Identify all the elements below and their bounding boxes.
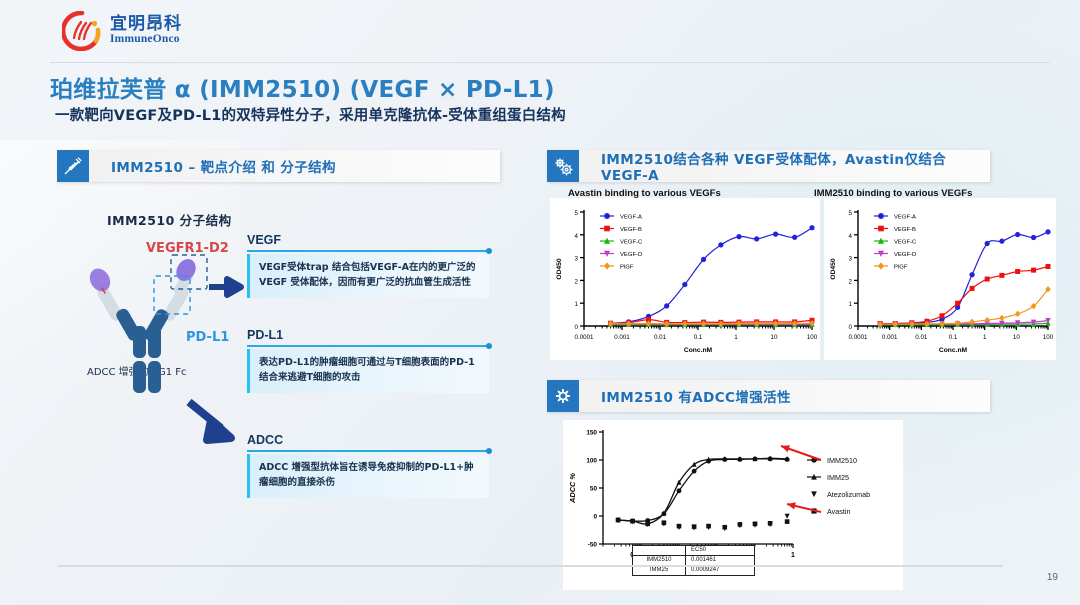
svg-text:0: 0 <box>593 514 597 521</box>
page-number: 19 <box>1047 572 1058 583</box>
svg-text:VEGF-B: VEGF-B <box>620 227 642 233</box>
slide-header: 宜明昂科 ImmuneOnco <box>0 0 1080 64</box>
ec50-table: EC50 IMM2510 0.001461 IMM25 0.0009247 <box>632 545 755 576</box>
svg-text:VEGF-A: VEGF-A <box>620 215 642 221</box>
callout-pdl1: PD-L1 表达PD-L1的肿瘤细胞可通过与T细胞表面的PD-1结合来逃避T细胞… <box>247 328 489 393</box>
section-header-binding-bar: IMM2510结合各种 VEGF受体配体，Avastin仅结合VEGF-A <box>579 150 990 182</box>
chart-avastin-binding: 0123450.00010.0010.010.1110100Conc.nMOD4… <box>550 198 820 360</box>
svg-text:VEGF-D: VEGF-D <box>894 252 916 258</box>
table-header-row: EC50 <box>633 546 755 556</box>
svg-text:1: 1 <box>791 552 795 559</box>
gear-icon <box>547 380 579 412</box>
svg-text:0: 0 <box>849 324 853 331</box>
svg-text:-50: -50 <box>588 542 598 549</box>
callout-pdl1-body: 表达PD-L1的肿瘤细胞可通过与T细胞表面的PD-1结合来逃避T细胞的攻击 <box>247 349 489 393</box>
svg-text:1: 1 <box>849 301 853 308</box>
molecule-title: IMM2510 分子结构 <box>107 210 232 229</box>
arrow-to-vegf-callout <box>207 275 247 299</box>
svg-text:0: 0 <box>575 324 579 331</box>
page-subtitle: 一款靶向VEGF及PD-L1的双特异性分子，采用单克隆抗体-受体重组蛋白结构 <box>55 104 566 125</box>
svg-text:0.1: 0.1 <box>694 334 703 341</box>
svg-text:3: 3 <box>849 256 853 263</box>
table-row: IMM2510 0.001461 <box>633 556 755 566</box>
svg-text:1: 1 <box>983 334 987 341</box>
callout-vegf: VEGF VEGF受体trap 结合包括VEGF-A在内的更广泛的VEGF 受体… <box>247 233 489 298</box>
svg-text:5: 5 <box>849 210 853 217</box>
ec50-row0-name: IMM2510 <box>633 556 686 566</box>
svg-text:VEGF-B: VEGF-B <box>894 227 916 233</box>
ec50-row1-name: IMM25 <box>633 566 686 576</box>
svg-text:VEGF-C: VEGF-C <box>894 240 917 246</box>
svg-text:0.1: 0.1 <box>949 334 958 341</box>
callout-adcc-rule <box>247 450 489 452</box>
svg-text:VEGF-A: VEGF-A <box>894 215 916 221</box>
ec50-col-blank <box>633 546 686 556</box>
svg-text:PlGF: PlGF <box>894 265 908 271</box>
svg-text:5: 5 <box>575 210 579 217</box>
svg-text:VEGF-D: VEGF-D <box>620 252 642 258</box>
section-header-structure-bar: IMM2510 – 靶点介绍 和 分子结构 <box>89 150 500 182</box>
brand-name-cn: 宜明昂科 <box>110 16 182 33</box>
section-header-binding: IMM2510结合各种 VEGF受体配体，Avastin仅结合VEGF-A <box>547 150 990 182</box>
svg-text:150: 150 <box>586 430 597 437</box>
section-header-adcc-label: IMM2510 有ADCC增强活性 <box>601 386 791 406</box>
svg-text:2: 2 <box>849 278 853 285</box>
table-row: IMM25 0.0009247 <box>633 566 755 576</box>
svg-text:0.001: 0.001 <box>614 334 630 341</box>
svg-text:0.0001: 0.0001 <box>849 334 868 341</box>
gears-icon <box>547 150 579 182</box>
svg-text:1: 1 <box>734 334 738 341</box>
svg-text:PlGF: PlGF <box>620 265 634 271</box>
callout-pdl1-title: PD-L1 <box>247 328 489 342</box>
chart-imm2510-binding: 0123450.00010.0010.010.1110100Conc.nMOD4… <box>824 198 1056 360</box>
page-title: 珀维拉芙普 α (IMM2510) (VEGF × PD-L1) <box>50 70 555 104</box>
slide-root: 宜明昂科 ImmuneOnco 珀维拉芙普 α (IMM2510) (VEGF … <box>0 0 1080 605</box>
svg-text:10: 10 <box>771 334 778 341</box>
svg-text:100: 100 <box>807 334 818 341</box>
svg-text:0.001: 0.001 <box>882 334 898 341</box>
svg-text:10: 10 <box>1013 334 1020 341</box>
svg-text:50: 50 <box>590 486 598 493</box>
callout-adcc: ADCC ADCC 增强型抗体旨在诱导免疫抑制的PD-L1+肿瘤细胞的直接杀伤 <box>247 433 489 498</box>
svg-text:ADCC %: ADCC % <box>568 473 577 504</box>
callout-adcc-title: ADCC <box>247 433 489 447</box>
callout-adcc-body: ADCC 增强型抗体旨在诱导免疫抑制的PD-L1+肿瘤细胞的直接杀伤 <box>247 454 489 498</box>
ec50-row1-value: 0.0009247 <box>686 566 755 576</box>
svg-text:100: 100 <box>1043 334 1054 341</box>
svg-text:VEGF-C: VEGF-C <box>620 240 643 246</box>
svg-text:IMM2510: IMM2510 <box>827 456 857 465</box>
arrow-to-adcc-callout <box>185 398 241 444</box>
callout-pdl1-rule <box>247 345 489 347</box>
syringe-icon <box>57 150 89 182</box>
callout-vegf-rule <box>247 250 489 252</box>
ec50-row0-value: 0.001461 <box>686 556 755 566</box>
brand-logo: 宜明昂科 ImmuneOnco <box>62 11 182 51</box>
svg-text:100: 100 <box>586 458 597 465</box>
svg-text:4: 4 <box>575 233 579 240</box>
svg-text:Avastin: Avastin <box>827 507 850 516</box>
svg-text:2: 2 <box>575 278 579 285</box>
section-header-adcc-bar: IMM2510 有ADCC增强活性 <box>579 380 990 412</box>
svg-text:IMM25: IMM25 <box>827 473 849 482</box>
svg-text:Atezolizumab: Atezolizumab <box>827 490 870 499</box>
footer-divider <box>58 565 1003 567</box>
section-header-structure-label: IMM2510 – 靶点介绍 和 分子结构 <box>111 156 336 176</box>
section-header-adcc: IMM2510 有ADCC增强活性 <box>547 380 990 412</box>
brand-name-en: ImmuneOnco <box>110 34 182 46</box>
ec50-col-ec50: EC50 <box>686 546 755 556</box>
svg-text:OD450: OD450 <box>830 258 837 279</box>
callout-vegf-body: VEGF受体trap 结合包括VEGF-A在内的更广泛的VEGF 受体配体，因而… <box>247 254 489 298</box>
svg-text:Conc.nM: Conc.nM <box>939 347 968 354</box>
svg-text:3: 3 <box>575 256 579 263</box>
svg-text:0.01: 0.01 <box>915 334 928 341</box>
callout-vegf-title: VEGF <box>247 233 489 247</box>
section-header-binding-label: IMM2510结合各种 VEGF受体配体，Avastin仅结合VEGF-A <box>601 148 990 184</box>
svg-text:0.01: 0.01 <box>654 334 667 341</box>
svg-text:Conc.nM: Conc.nM <box>684 347 713 354</box>
immuneonco-logo-icon <box>62 11 102 51</box>
svg-text:4: 4 <box>849 233 853 240</box>
header-divider <box>50 62 1050 63</box>
svg-text:0.0001: 0.0001 <box>575 334 594 341</box>
section-header-structure: IMM2510 – 靶点介绍 和 分子结构 <box>57 150 500 182</box>
svg-text:1: 1 <box>575 301 579 308</box>
svg-text:OD450: OD450 <box>556 258 563 279</box>
